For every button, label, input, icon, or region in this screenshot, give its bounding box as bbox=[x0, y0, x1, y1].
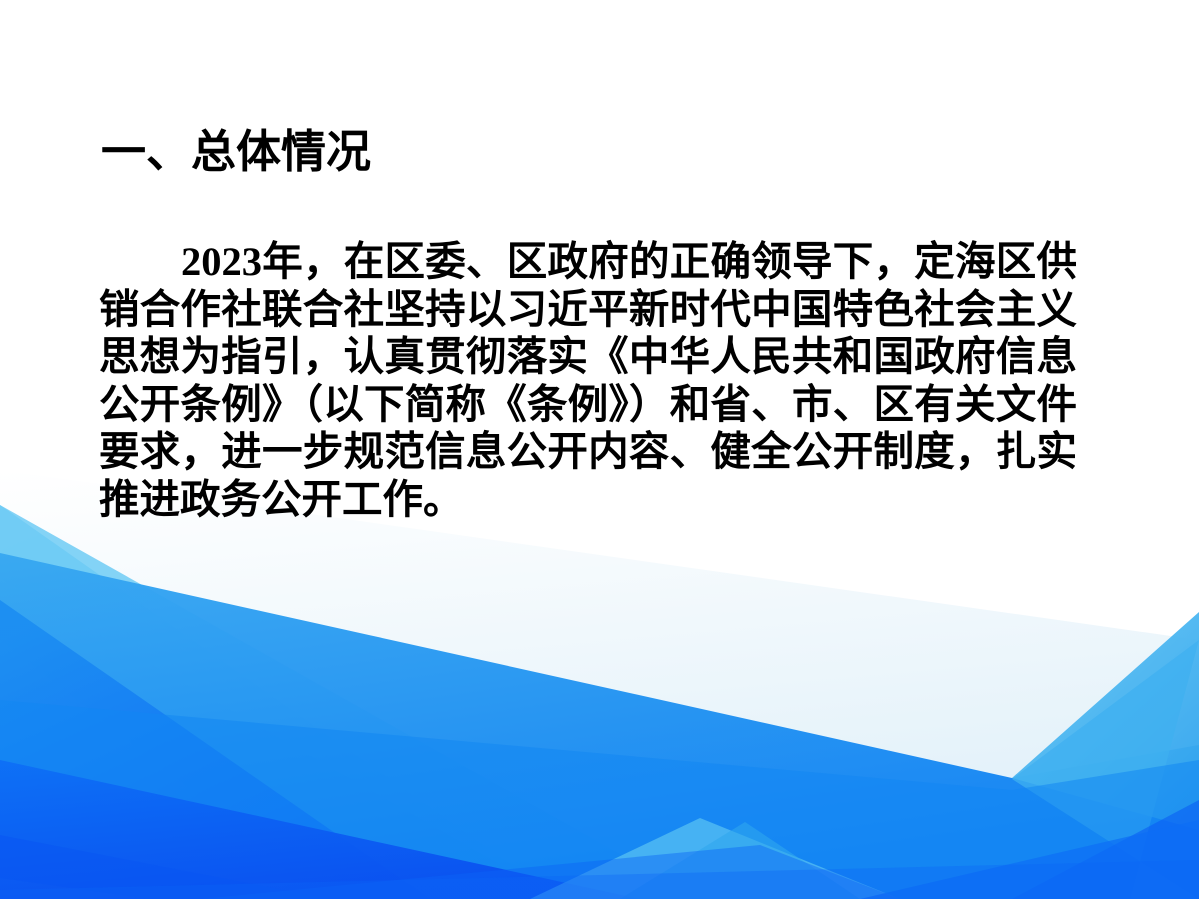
presentation-slide: 一、总体情况 2023年，在区委、区政府的正确领导下，定海区供销合作社联合社坚持… bbox=[0, 0, 1199, 899]
slide-heading: 一、总体情况 bbox=[101, 129, 371, 176]
slide-body-paragraph: 2023年，在区委、区政府的正确领导下，定海区供销合作社联合社坚持以习近平新时代… bbox=[99, 238, 1077, 524]
slide-content: 一、总体情况 2023年，在区委、区政府的正确领导下，定海区供销合作社联合社坚持… bbox=[0, 0, 1199, 899]
